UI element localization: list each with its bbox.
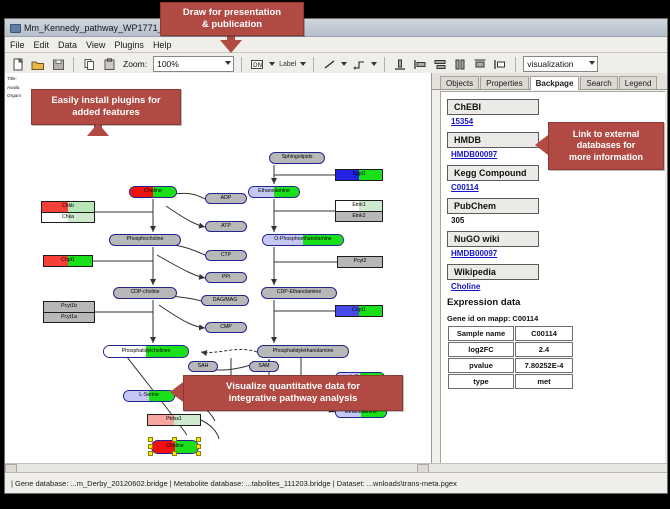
zoom-value: 100% — [157, 59, 179, 69]
callout-draw-text: Draw for presentation & publication — [183, 7, 281, 31]
node-label: ADP — [221, 196, 232, 201]
db-block-wikipedia: Wikipedia Choline — [447, 262, 659, 291]
db-link-nugo[interactable]: HMDB00097 — [451, 249, 659, 258]
status-bar: | Gene database: ...m_Derby_20120602.bri… — [5, 472, 667, 493]
gene-row[interactable]: Pcyt2 — [338, 257, 382, 267]
node-label: ATP — [221, 224, 231, 229]
callout-visualize: Visualize quantitative data for integrat… — [183, 375, 403, 411]
expr-key-log2fc: log2FC — [448, 342, 514, 357]
node-label: Etnk2 — [352, 214, 365, 219]
metabolite-node[interactable]: ATP — [205, 221, 247, 232]
gene-row[interactable]: Cept1 — [336, 306, 382, 316]
gene-product-node[interactable]: ChkbChka — [41, 201, 95, 223]
tab-properties[interactable]: Properties — [480, 76, 528, 89]
callout-plugins: Easily install plugins for added feature… — [31, 89, 181, 125]
metabolite-node[interactable]: O-Phosphoethanolamine — [262, 234, 344, 246]
gene-product-node[interactable]: Etnk1Etnk2 — [335, 200, 383, 222]
label-tool-label[interactable]: Label — [279, 61, 296, 68]
callout-visualize-arrow-icon — [170, 382, 183, 402]
node-label: Phosphocholine — [127, 237, 164, 242]
selection-handle[interactable] — [196, 437, 201, 442]
save-disk-icon[interactable] — [50, 56, 66, 72]
line-dropdown-icon[interactable] — [341, 62, 347, 66]
expr-key-pvalue: pvalue — [448, 358, 514, 373]
db-value-pubchem: 305 — [451, 216, 659, 225]
tab-search[interactable]: Search — [580, 76, 617, 89]
selection-handle[interactable] — [148, 444, 153, 449]
db-name-hmdb: HMDB — [447, 132, 539, 148]
menu-data[interactable]: Data — [58, 40, 77, 50]
node-label: SAM — [258, 364, 269, 369]
node-label: Etnk1 — [352, 203, 365, 208]
gene-id-on-mapp: Gene id on mapp: C00114 — [447, 314, 659, 323]
menu-help[interactable]: Help — [153, 40, 172, 50]
pathvisio-window: Mm_Kennedy_pathway_WP1771_45176.gpml Fil… — [4, 18, 668, 494]
datanode-dropdown-icon[interactable] — [269, 62, 275, 66]
table-row: type met — [448, 374, 573, 389]
node-label: Pcyt1a — [61, 315, 77, 320]
open-folder-icon[interactable] — [30, 56, 46, 72]
node-label: Pcyt1b — [61, 304, 77, 309]
align-left-icon[interactable] — [412, 56, 428, 72]
selection-handle[interactable] — [172, 437, 177, 442]
node-label: Cept1 — [352, 308, 366, 313]
expression-table: Sample name C00114 log2FC 2.4 pvalue 7.8… — [447, 325, 574, 390]
node-label: CMP — [220, 325, 232, 330]
node-label: L-Serine — [139, 393, 159, 398]
menu-file[interactable]: File — [10, 40, 25, 50]
callout-plugins-arrow-icon — [87, 123, 109, 136]
selection-handle[interactable] — [196, 444, 201, 449]
gene-row[interactable]: Chpt1 — [44, 256, 92, 266]
node-label: CDP-Ethanolamine — [277, 290, 321, 295]
copy-icon[interactable] — [81, 56, 97, 72]
gene-product-node[interactable]: Pcyt2 — [337, 256, 383, 268]
pathway-canvas[interactable]: Title: Availa Organi — [5, 73, 431, 473]
node-label: Chkb — [62, 204, 74, 209]
new-document-icon[interactable] — [10, 56, 26, 72]
metabolite-node[interactable]: Sphingolipids — [269, 152, 325, 164]
node-label: Ethanolamine — [258, 189, 290, 194]
table-row: log2FC 2.4 — [448, 342, 573, 357]
same-width-icon[interactable] — [452, 56, 468, 72]
datanode-tool-icon[interactable]: DN — [249, 56, 265, 72]
expression-data-heading: Expression data — [447, 297, 659, 308]
node-label: Sgpl1 — [352, 172, 365, 177]
metabolite-node[interactable]: CDP-choline — [113, 287, 177, 299]
gene-row[interactable]: Pcyt1b — [44, 302, 94, 312]
gene-product-node[interactable]: Ptdss1 — [147, 414, 201, 426]
expr-val-pvalue: 7.80252E-4 — [515, 358, 573, 373]
node-label: O-Phosphoethanolamine — [274, 237, 331, 242]
node-label: DAG/MAG — [213, 298, 238, 303]
toolbar-separator-5 — [515, 57, 516, 72]
callout-draw-arrow-icon — [220, 40, 242, 53]
tab-backpage[interactable]: Backpage — [530, 76, 580, 90]
window-titlebar: Mm_Kennedy_pathway_WP1771_45176.gpml — [5, 19, 667, 37]
callout-plugins-text: Easily install plugins for added feature… — [51, 95, 160, 119]
db-block-pubchem: PubChem 305 — [447, 196, 659, 225]
chevron-down-icon — [225, 61, 231, 65]
selection-handle[interactable] — [148, 451, 153, 456]
table-row: pvalue 7.80252E-4 — [448, 358, 573, 373]
gene-product-node[interactable]: Cept1 — [335, 305, 383, 317]
node-label: Sphingolipids — [282, 155, 313, 160]
paste-icon[interactable] — [101, 56, 117, 72]
zoom-combobox[interactable]: 100% — [153, 56, 234, 72]
gene-row[interactable]: Chka — [42, 212, 94, 223]
node-label: Choline — [166, 444, 184, 449]
node-label: Chpt1 — [61, 258, 75, 263]
gene-product-node[interactable]: Chpt1 — [43, 255, 93, 267]
metabolite-node[interactable]: CMP — [205, 322, 247, 333]
gene-row[interactable]: Etnk1 — [336, 201, 382, 211]
connector-dropdown-icon[interactable] — [371, 62, 377, 66]
pathway-canvas-panel[interactable]: Title: Availa Organi — [5, 73, 432, 473]
db-block-nugo: NuGO wiki HMDB00097 — [447, 229, 659, 258]
db-name-pubchem: PubChem — [447, 198, 539, 214]
metabolite-node[interactable]: Ethanolamine — [248, 186, 300, 198]
same-height-icon[interactable] — [472, 56, 488, 72]
gene-row[interactable]: Etnk2 — [336, 211, 382, 222]
metabolite-node[interactable]: ADP — [205, 193, 247, 204]
tab-legend[interactable]: Legend — [619, 76, 658, 89]
expr-key-sample: Sample name — [448, 326, 514, 341]
metabolite-node[interactable]: L-Serine — [123, 390, 175, 402]
sidebar-tabstrip[interactable]: Objects Properties Backpage Search Legen… — [432, 73, 667, 90]
metabolite-node[interactable]: SAM — [249, 361, 279, 372]
node-label: Choline — [144, 189, 162, 194]
metabolite-node[interactable]: PPi — [205, 272, 247, 283]
connector-tool-icon[interactable] — [351, 56, 367, 72]
node-label: Phosphatidylethanolamine — [273, 349, 334, 354]
callout-visualize-text: Visualize quantitative data for integrat… — [226, 381, 360, 405]
metabolite-node[interactable]: CDP-Ethanolamine — [261, 287, 337, 299]
metabolite-node[interactable]: Choline — [129, 186, 177, 198]
metabolite-node[interactable]: Phosphatidylcholines — [103, 345, 189, 358]
line-tool-icon[interactable] — [321, 56, 337, 72]
expr-val-log2fc: 2.4 — [515, 342, 573, 357]
align-top-icon[interactable] — [392, 56, 408, 72]
menu-view[interactable]: View — [86, 40, 105, 50]
status-text: | Gene database: ...m_Derby_20120602.bri… — [11, 479, 457, 488]
gene-product-node[interactable]: Pcyt1bPcyt1a — [43, 301, 95, 323]
tab-objects[interactable]: Objects — [440, 76, 479, 89]
menubar[interactable]: File Edit Data View Plugins Help — [5, 37, 667, 53]
db-link-wikipedia[interactable]: Choline — [451, 282, 659, 291]
selection-handle[interactable] — [148, 437, 153, 442]
expr-key-type: type — [448, 374, 514, 389]
zoom-label: Zoom: — [123, 59, 147, 69]
gene-row[interactable]: Chkb — [42, 202, 94, 212]
db-name-wikipedia: Wikipedia — [447, 264, 539, 280]
callout-link: Link to external databases for more info… — [548, 122, 664, 170]
metabolite-node[interactable]: Phosphocholine — [109, 234, 181, 246]
gene-row[interactable]: Sgpl1 — [336, 170, 382, 180]
metabolite-node[interactable]: SAH — [188, 361, 218, 372]
expr-val-sample: C00114 — [515, 326, 573, 341]
svg-text:DN: DN — [253, 62, 262, 69]
metabolite-node[interactable]: Phosphatidylethanolamine — [257, 345, 349, 358]
visualization-combobox[interactable]: visualization — [523, 56, 598, 72]
node-label: CDP-choline — [130, 290, 159, 295]
callout-link-arrow-icon — [535, 135, 548, 155]
toolbar-separator-4 — [384, 57, 385, 72]
menu-plugins[interactable]: Plugins — [114, 40, 144, 50]
metabolite-node[interactable]: DAG/MAG — [201, 295, 249, 306]
callout-link-text: Link to external databases for more info… — [569, 129, 643, 163]
toolbar-separator-3 — [313, 57, 314, 72]
db-link-kegg[interactable]: C00114 — [451, 183, 659, 192]
toolbar-separator-2 — [241, 57, 242, 72]
label-dropdown-icon[interactable] — [300, 62, 306, 66]
node-label: Chka — [62, 215, 74, 220]
screenshot-root: Mm_Kennedy_pathway_WP1771_45176.gpml Fil… — [0, 0, 670, 509]
gene-row[interactable]: Pcyt1a — [44, 312, 94, 323]
node-label: Pcyt2 — [354, 259, 367, 264]
expr-val-type: met — [515, 374, 573, 389]
callout-draw: Draw for presentation & publication — [160, 2, 304, 36]
db-name-chebi: ChEBI — [447, 99, 539, 115]
gene-product-node[interactable]: Sgpl1 — [335, 169, 383, 181]
node-label: SAH — [198, 364, 209, 369]
node-label: Phosphatidylcholines — [122, 349, 171, 354]
app-icon — [9, 22, 20, 33]
chevron-down-icon-2 — [589, 61, 595, 65]
selection-handle[interactable] — [172, 451, 177, 456]
toolbar-separator — [73, 57, 74, 72]
node-label: Ptdss1 — [166, 417, 182, 422]
db-name-kegg: Kegg Compound — [447, 165, 539, 181]
selection-handle[interactable] — [196, 451, 201, 456]
menu-edit[interactable]: Edit — [34, 40, 50, 50]
metabolite-node[interactable]: CTP — [205, 250, 247, 261]
align-stack-icon[interactable] — [432, 56, 448, 72]
db-name-nugo: NuGO wiki — [447, 231, 539, 247]
gene-row[interactable]: Ptdss1 — [148, 415, 200, 425]
bring-to-front-icon[interactable] — [492, 56, 508, 72]
node-label: CTP — [221, 253, 231, 258]
table-row: Sample name C00114 — [448, 326, 573, 341]
node-label: PPi — [222, 275, 230, 280]
visualization-value: visualization — [527, 59, 573, 69]
